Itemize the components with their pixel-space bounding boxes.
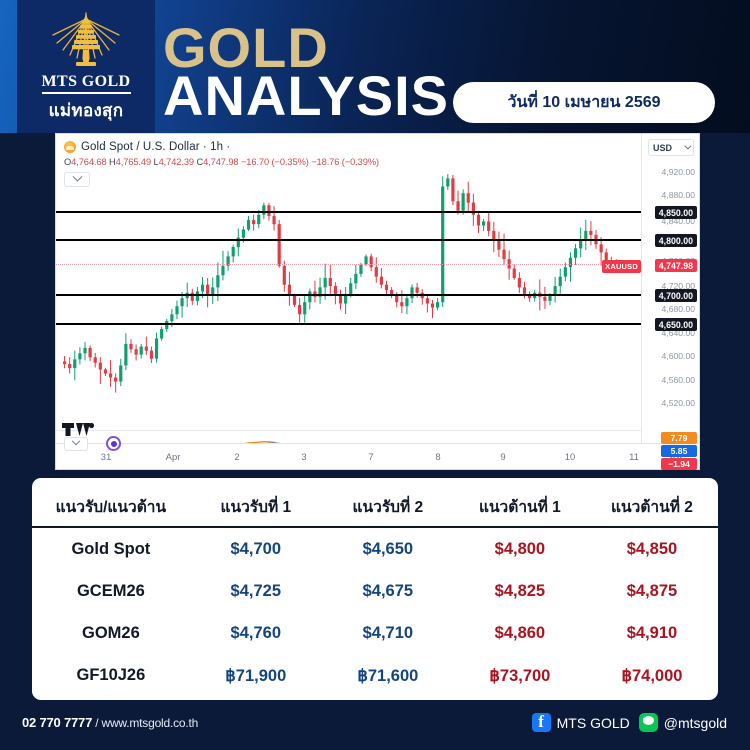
footer-url[interactable]: www.mtsgold.co.th (102, 716, 199, 730)
page-footer: 02 770 7777 / www.mtsgold.co.th MTS GOLD… (0, 700, 750, 750)
table-row: Gold Spot $4,700 $4,650 $4,800 $4,850 (32, 527, 718, 570)
time-tick: 3 (301, 452, 306, 463)
support-line-4700 (56, 294, 643, 296)
resistance-line-4800 (56, 239, 643, 241)
price-tick: 4,680.00 (662, 304, 695, 314)
live-price-line (56, 264, 643, 265)
cell-resist-2: $4,850 (586, 527, 718, 570)
cell-resist-1: ฿73,700 (454, 654, 586, 697)
cell-support-1: $4,725 (190, 570, 322, 612)
currency-value: USD (653, 143, 672, 153)
purple-marker-icon[interactable] (106, 436, 121, 451)
level-label-4850: 4,850.00 (655, 206, 697, 219)
time-tick: 7 (368, 452, 373, 463)
price-tick: 4,880.00 (662, 190, 695, 200)
indicator-collapse-button[interactable] (64, 437, 88, 451)
cell-resist-1: $4,825 (454, 570, 586, 612)
chevron-down-icon (684, 143, 691, 150)
cell-resist-2: ฿74,000 (586, 654, 718, 697)
table-row: GOM26 $4,760 $4,710 $4,860 $4,910 (32, 612, 718, 654)
col-header-resist-1: แนวต้านที่ 1 (454, 478, 586, 527)
chevron-down-icon (72, 437, 80, 445)
col-header-resist-2: แนวต้านที่ 2 (586, 478, 718, 527)
row-name: GF10J26 (32, 654, 190, 697)
cell-support-2: $4,675 (322, 570, 454, 612)
cell-support-2: $4,650 (322, 527, 454, 570)
date-badge: วันที่ 10 เมษายน 2569 (453, 82, 715, 123)
level-label-4650: 4,650.00 (655, 318, 697, 331)
time-axis[interactable]: 31 Apr 2 3 7 8 9 10 11 (56, 443, 699, 469)
macd-badge: 7.79 (661, 432, 697, 444)
time-tick: 2 (234, 452, 239, 463)
table-row: GCEM26 $4,725 $4,675 $4,825 $4,875 (32, 570, 718, 612)
col-header-support-1: แนวรับที่ 1 (190, 478, 322, 527)
level-label-4800: 4,800.00 (655, 234, 697, 247)
live-symbol-tag: XAUUSD (602, 260, 641, 273)
facebook-icon[interactable] (532, 713, 551, 732)
line-name[interactable]: @mtsgold (664, 715, 727, 731)
tradingview-logo[interactable] (62, 416, 96, 436)
time-tick: 9 (500, 452, 505, 463)
indicator-value-badges: 7.79 5.85 −1.94 (661, 432, 697, 470)
page-header: MTS GOLD แม่ทองสุก GOLD ANALYSIS วันที่ … (0, 0, 750, 133)
cell-resist-1: $4,860 (454, 612, 586, 654)
price-tick: 4,920.00 (662, 167, 695, 177)
table-row: GF10J26 ฿71,900 ฿71,600 ฿73,700 ฿74,000 (32, 654, 718, 697)
price-scale[interactable]: USD 4,920.00 4,880.00 4,840.00 4,760.00 … (641, 134, 699, 469)
footer-separator: / (92, 716, 101, 730)
col-header-name: แนวรับ/แนวต้าน (32, 478, 190, 527)
brand-name-en: MTS GOLD (42, 73, 131, 94)
cell-support-2: $4,710 (322, 612, 454, 654)
price-tick: 4,600.00 (662, 351, 695, 361)
time-tick: Apr (166, 452, 181, 463)
cell-resist-2: $4,875 (586, 570, 718, 612)
cell-resist-2: $4,910 (586, 612, 718, 654)
line-icon[interactable] (639, 713, 658, 732)
row-name: GOM26 (32, 612, 190, 654)
resistance-line-4850 (56, 211, 643, 213)
price-tick: 4,560.00 (662, 375, 695, 385)
footer-phone: 02 770 7777 (22, 715, 92, 730)
tradingview-chart-panel[interactable]: Gold Spot / U.S. Dollar · 1h · O4,764.68… (55, 133, 700, 470)
level-label-4700: 4,700.00 (655, 289, 697, 302)
row-name: Gold Spot (32, 527, 190, 570)
time-tick: 31 (101, 452, 112, 463)
time-tick: 11 (629, 452, 639, 463)
time-tick: 8 (435, 452, 440, 463)
live-price-label: 4,747.98 (655, 259, 697, 272)
signal-badge: 5.85 (661, 445, 697, 457)
support-resistance-card: แนวรับ/แนวต้าน แนวรับที่ 1 แนวรับที่ 2 แ… (32, 478, 718, 700)
brand-logo: MTS GOLD แม่ทองสุก (17, 0, 155, 133)
candlestick-series (56, 134, 643, 430)
footer-social: MTS GOLD @mtsgold (532, 713, 730, 732)
cell-support-2: ฿71,600 (322, 654, 454, 697)
support-line-4650 (56, 323, 643, 325)
cell-support-1: $4,700 (190, 527, 322, 570)
brand-name-th: แม่ทองสุก (49, 97, 124, 124)
col-header-support-2: แนวรับที่ 2 (322, 478, 454, 527)
currency-select[interactable]: USD (648, 139, 694, 156)
cell-resist-1: $4,800 (454, 527, 586, 570)
row-name: GCEM26 (32, 570, 190, 612)
cell-support-1: $4,760 (190, 612, 322, 654)
footer-contact: 02 770 7777 / www.mtsgold.co.th (22, 715, 198, 730)
histogram-badge: −1.94 (661, 458, 697, 470)
facebook-name[interactable]: MTS GOLD (557, 715, 630, 731)
cell-support-1: ฿71,900 (190, 654, 322, 697)
price-tick: 4,520.00 (662, 398, 695, 408)
support-resistance-table: แนวรับ/แนวต้าน แนวรับที่ 1 แนวรับที่ 2 แ… (32, 478, 718, 697)
time-tick: 10 (565, 452, 576, 463)
page-title-analysis: ANALYSIS (163, 69, 449, 122)
table-header-row: แนวรับ/แนวต้าน แนวรับที่ 1 แนวรับที่ 2 แ… (32, 478, 718, 527)
pagoda-icon (43, 9, 129, 71)
chart-plot-area[interactable] (56, 134, 643, 430)
